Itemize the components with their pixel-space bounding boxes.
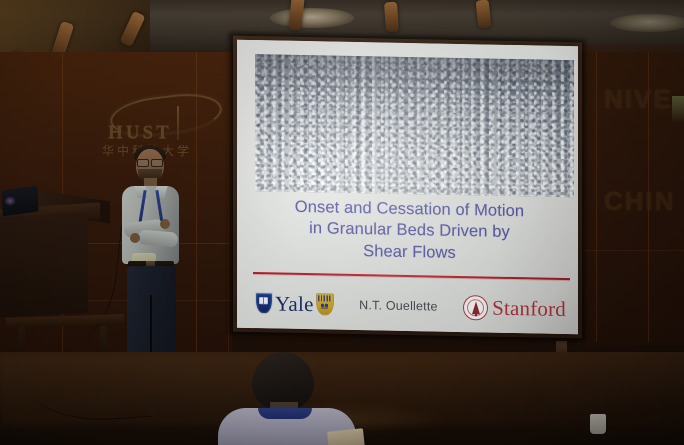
track-spotlight <box>384 2 399 33</box>
projection-screen: Onset and Cessation of Motion in Granula… <box>237 40 578 335</box>
yale-shield-icon <box>255 292 273 314</box>
yale-wordmark: Yale <box>275 293 314 315</box>
track-spotlight <box>476 0 492 29</box>
emblem-letters: HUST <box>108 122 220 144</box>
stanford-logo-group: Stanford <box>463 295 566 322</box>
wall-panel-seam <box>596 52 597 342</box>
slide-title: Onset and Cessation of Motion in Granula… <box>247 196 572 267</box>
recessed-ceiling-light <box>610 14 684 32</box>
speaker-hand <box>130 233 140 243</box>
audience-handout <box>327 428 365 445</box>
stanford-tree-trunk-icon <box>475 312 477 316</box>
presentation-slide: Onset and Cessation of Motion in Granula… <box>237 40 578 335</box>
audience-member <box>212 352 372 445</box>
yale-logo-group: Yale <box>255 292 334 316</box>
wall-light-glow <box>672 96 684 122</box>
slide-divider-rule <box>253 272 570 280</box>
slide-logo-row: Yale N.T. Ouellette Stanford <box>251 280 570 332</box>
audience-collar <box>258 408 312 419</box>
glasses-icon <box>137 159 163 165</box>
presentation-photo-scene: HUST 华中科技大学 NIVE CHIN Onset and Cessatio… <box>0 0 684 445</box>
stanford-seal-icon <box>463 295 488 320</box>
shield-crown-icon <box>318 295 332 301</box>
stanford-wordmark: Stanford <box>492 297 566 319</box>
speaker-hand <box>160 219 170 229</box>
right-wall-text-line1: NIVE <box>604 84 673 115</box>
right-wall-text-line2: CHIN <box>604 186 676 217</box>
shield-emblem-icon <box>321 303 328 311</box>
photo-lighting-gradient <box>255 54 574 197</box>
paper-cup <box>590 414 606 434</box>
granular-bed-photo <box>255 54 574 197</box>
laptop-screen-glow <box>4 196 16 206</box>
wall-panel-seam <box>580 250 684 251</box>
slide-author: N.T. Ouellette <box>334 298 463 314</box>
recessed-ceiling-light <box>270 8 354 28</box>
yale-book-icon <box>259 297 268 304</box>
yale-engineering-shield-icon <box>316 293 334 315</box>
